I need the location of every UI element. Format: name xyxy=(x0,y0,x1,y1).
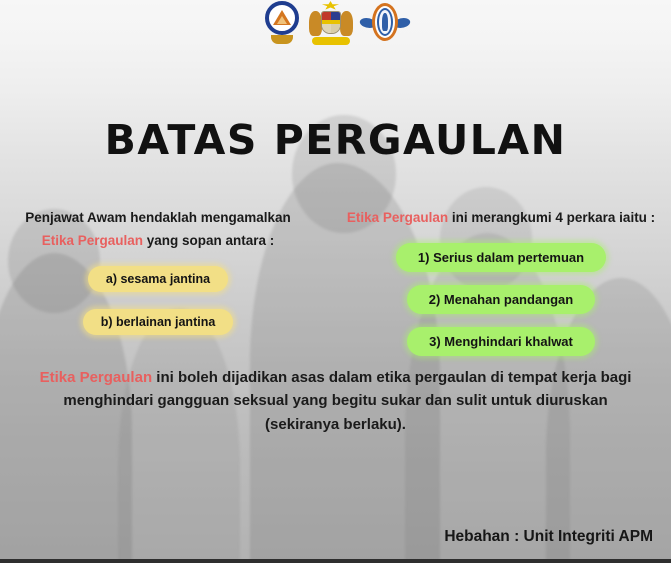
jpam-state-crest-emblem xyxy=(262,1,302,45)
coat-tiger-right xyxy=(340,11,353,36)
left-intro-line2-rest: yang sopan antara : xyxy=(143,233,274,248)
coat-star xyxy=(322,1,340,10)
crest-base xyxy=(271,35,293,44)
body-line3: (sekiranya berlaku). xyxy=(265,416,406,433)
right-heading-text: Etika Pergaulan ini merangkumi 4 perkara… xyxy=(338,206,664,229)
pill-sesama-jantina[interactable]: a) sesama jantina xyxy=(88,266,228,292)
shield-quarter-3 xyxy=(322,24,331,33)
left-intro-line1: Penjawat Awam hendaklah mengamalkan xyxy=(25,210,291,225)
body-line1-rest: ini boleh dijadikan asas dalam etika per… xyxy=(152,369,631,386)
page-title: BATAS PERGAULAN xyxy=(0,116,671,164)
emblem-bar xyxy=(0,0,671,46)
malaysia-coat-of-arms-emblem xyxy=(308,1,354,45)
left-column: Penjawat Awam hendaklah mengamalkan Etik… xyxy=(8,206,308,348)
left-intro-highlight: Etika Pergaulan xyxy=(42,233,143,248)
coat-shield xyxy=(321,11,341,34)
pill-berlainan-jantina[interactable]: b) berlainan jantina xyxy=(83,309,234,335)
body-line2: menghindari gangguan seksual yang begitu… xyxy=(63,392,607,409)
right-column: Etika Pergaulan ini merangkumi 4 perkara… xyxy=(338,206,664,369)
pill-serius-dalam-pertemuan[interactable]: 1) Serius dalam pertemuan xyxy=(396,243,606,272)
right-heading-highlight: Etika Pergaulan xyxy=(347,210,448,225)
footer-credit: Hebahan : Unit Integriti APM xyxy=(444,528,653,546)
pill-menghindari-khalwat[interactable]: 3) Menghindari khalwat xyxy=(407,327,595,356)
coat-ribbon xyxy=(312,37,350,45)
apm-winged-badge-emblem xyxy=(360,1,410,45)
crest-inner-triangle xyxy=(277,16,287,24)
right-heading-rest: ini merangkumi 4 perkara iaitu : xyxy=(448,210,655,225)
body-paragraph: Etika Pergaulan ini boleh dijadikan asas… xyxy=(16,366,655,436)
coat-tiger-left xyxy=(309,11,322,36)
left-intro-text: Penjawat Awam hendaklah mengamalkan Etik… xyxy=(8,206,308,252)
left-pill-list: a) sesama jantina b) berlainan jantina xyxy=(8,266,308,335)
bottom-rule xyxy=(0,559,671,563)
badge-figure xyxy=(382,13,388,31)
body-highlight: Etika Pergaulan xyxy=(40,369,153,386)
poster-canvas: BATAS PERGAULAN Penjawat Awam hendaklah … xyxy=(0,0,671,563)
shield-quarter-4 xyxy=(331,24,340,33)
right-pill-list: 1) Serius dalam pertemuan 2) Menahan pan… xyxy=(338,243,664,356)
pill-menahan-pandangan[interactable]: 2) Menahan pandangan xyxy=(407,285,595,314)
